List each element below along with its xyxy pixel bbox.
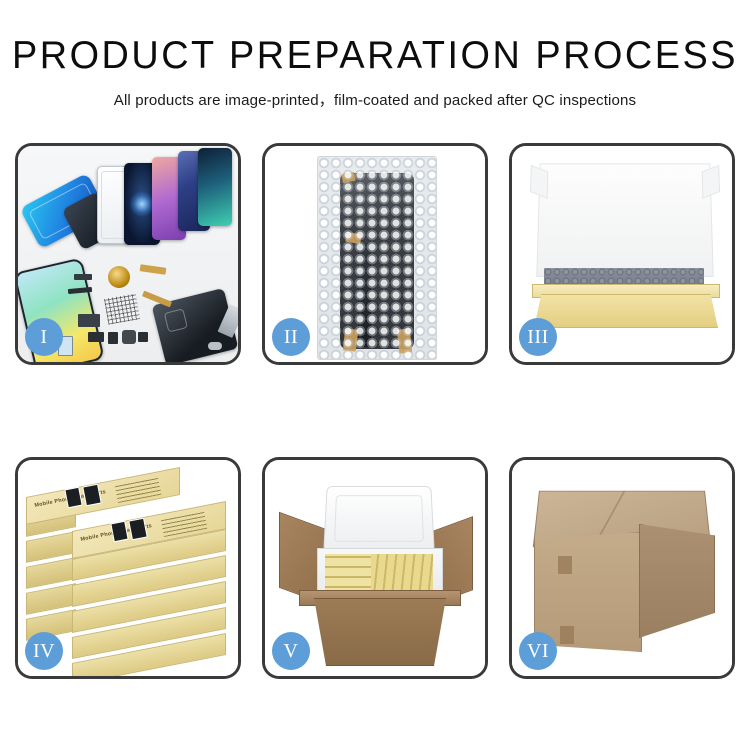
page-title: PRODUCT PREPARATION PROCESS	[11, 36, 739, 77]
tape-piece	[343, 328, 358, 351]
page-header: PRODUCT PREPARATION PROCESS All products…	[0, 0, 750, 110]
panel-badge-6: VI	[519, 632, 557, 670]
foam-lid	[323, 486, 435, 552]
carton-front-face	[534, 532, 642, 652]
panel-badge-3: III	[519, 318, 557, 356]
gold-coil-icon	[108, 266, 130, 288]
bubble-wrap-bag	[317, 156, 437, 360]
process-panel-6: VI	[509, 457, 735, 679]
tape-piece	[397, 328, 412, 353]
carton-tab	[558, 556, 572, 574]
small-part-icon	[78, 314, 100, 327]
circuit-board-icon	[102, 291, 143, 327]
white-box-lid	[536, 163, 714, 276]
process-panel-2: II	[262, 143, 488, 365]
carton-body	[305, 598, 455, 666]
carton-tab	[560, 626, 574, 644]
small-part-icon	[122, 330, 136, 344]
process-panel-5: V	[262, 457, 488, 679]
flex-cable-strip	[358, 243, 372, 347]
small-part-icon	[108, 332, 118, 344]
page-subtitle: All products are image-printed，film-coat…	[4, 88, 747, 110]
wrapped-screen	[340, 173, 414, 349]
panel-badge-5: V	[272, 632, 310, 670]
small-part-icon	[138, 332, 148, 342]
process-panel-4: Mobile Phone Spare Parts Mobile Phone Sp…	[15, 457, 241, 679]
process-panel-grid: I II III	[15, 143, 735, 679]
process-panel-3: III	[509, 143, 735, 365]
panel-badge-1: I	[25, 318, 63, 356]
kraft-box-front	[534, 294, 718, 328]
panel-badge-2: II	[272, 318, 310, 356]
panel-badge-4: IV	[25, 632, 63, 670]
screw-set-icon	[208, 342, 222, 350]
phone-display-teal	[198, 148, 232, 226]
carton-side-face	[639, 524, 715, 638]
small-part-icon	[88, 332, 104, 342]
process-panel-1: I	[15, 143, 241, 365]
small-part-icon	[74, 274, 92, 280]
